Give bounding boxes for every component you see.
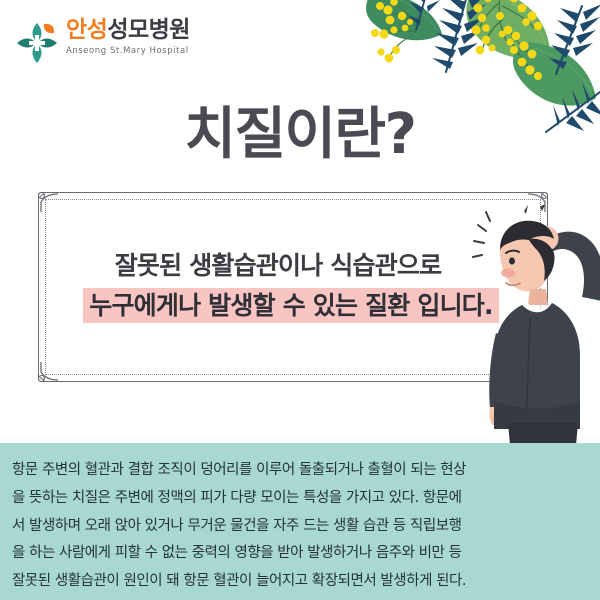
infographic-canvas: 안성성모병원 Anseong St.Mary Hospital 치질이란?: [0, 0, 600, 600]
hospital-cross-flower-logo-icon: [14, 20, 60, 66]
description-line: 을 하는 사람에게 피할 수 없는 중력의 영향을 받아 발생하거나 음주와 비…: [12, 540, 588, 568]
logo-name-highlight: 안성: [66, 17, 107, 43]
page-title: 치질이란?: [0, 104, 600, 166]
hospital-logo[interactable]: 안성성모병원 Anseong St.Mary Hospital: [14, 18, 190, 66]
message-line-2-highlighted: 누구에게나 발생할 수 있는 질환 입니다.: [89, 288, 492, 323]
message-frame: 잘못된 생활습관이나 식습관으로 누구에게나 발생할 수 있는 질환 입니다.: [38, 192, 548, 382]
description-line: 서 발생하며 오래 앉아 있거나 무거운 물건을 자주 드는 생활 습관 등 직…: [12, 513, 588, 541]
description-line: 잘못된 생활습관이 원인이 돼 항문 혈관이 늘어지고 확장되면서 발생하게 된…: [12, 568, 588, 596]
message-content: 잘못된 생활습관이나 식습관으로 누구에게나 발생할 수 있는 질환 입니다.: [38, 192, 548, 382]
description-panel: 항문 주변의 혈관과 결합 조직이 덩어리를 이루어 돌출되거나 출혈이 되는 …: [0, 443, 600, 600]
description-line: 을 뜻하는 치질은 주변에 정맥의 피가 다량 모이는 특성을 가지고 있다. …: [12, 485, 588, 513]
logo-name-rest: 성모병원: [107, 17, 190, 43]
logo-text-group: 안성성모병원 Anseong St.Mary Hospital: [66, 18, 190, 56]
logo-tagline: Anseong St.Mary Hospital: [66, 46, 190, 56]
logo-name: 안성성모병원: [66, 18, 190, 42]
description-line: 항문 주변의 혈관과 결합 조직이 덩어리를 이루어 돌출되거나 출혈이 되는 …: [12, 457, 588, 485]
message-line-2-wrapper: 누구에게나 발생할 수 있는 질환 입니다.: [89, 287, 496, 325]
message-line-1: 잘못된 생활습관이나 식습관으로: [115, 249, 472, 283]
